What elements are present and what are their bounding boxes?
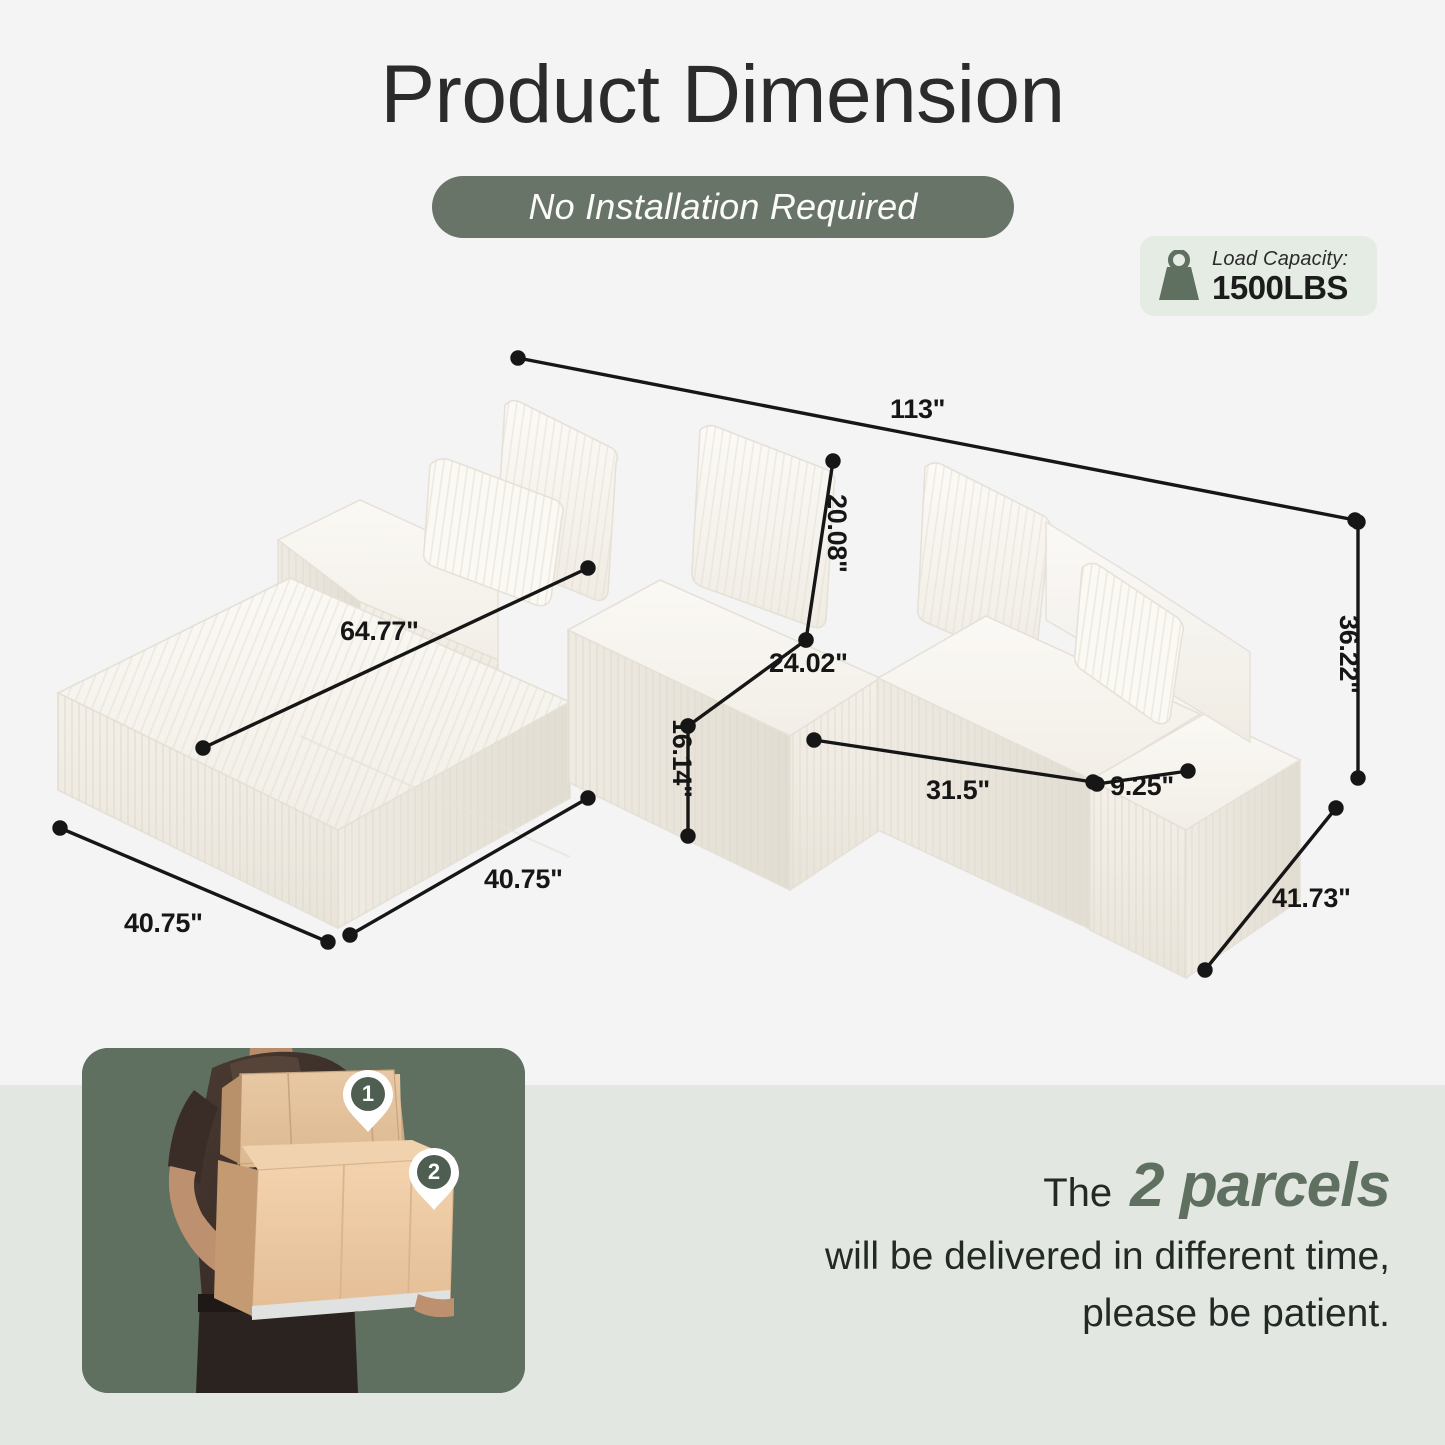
- delivery-photo: 1 2: [82, 1048, 525, 1393]
- parcel-the-word: The: [1043, 1170, 1112, 1216]
- dimension-label-overall-depth: 41.73": [1272, 883, 1351, 914]
- load-capacity-label: Load Capacity:: [1212, 249, 1348, 269]
- svg-text:1: 1: [362, 1081, 374, 1106]
- parcel-message-line3: please be patient.: [620, 1286, 1390, 1343]
- no-installation-badge: No Installation Required: [432, 176, 1014, 238]
- dimension-label-back-cushion-height: 20.08": [821, 494, 852, 573]
- sofa-dimension-diagram: [0, 330, 1445, 1010]
- parcel-message-line1: The 2 parcels: [620, 1150, 1390, 1221]
- svg-text:2: 2: [428, 1159, 440, 1184]
- load-capacity-badge: Load Capacity: 1500LBS: [1140, 236, 1377, 316]
- dimension-label-seat-depth: 24.02": [769, 648, 848, 679]
- dimension-label-chaise-depth: 40.75": [484, 864, 563, 895]
- product-dimension-infographic: Product Dimension No Installation Requir…: [0, 0, 1445, 1445]
- dimension-label-overall-height: 36.22": [1333, 615, 1364, 694]
- no-installation-label: No Installation Required: [528, 186, 917, 228]
- weight-icon: [1156, 250, 1202, 302]
- parcel-message: The 2 parcels will be delivered in diffe…: [620, 1150, 1390, 1342]
- page-title: Product Dimension: [0, 52, 1445, 138]
- dimension-label-seat-height: 16.14": [666, 719, 697, 798]
- load-capacity-value: 1500LBS: [1212, 271, 1348, 304]
- dimension-label-chaise-width: 40.75": [124, 908, 203, 939]
- parcel-message-line2: will be delivered in different time,: [620, 1229, 1390, 1286]
- dimension-label-seat-width: 31.5": [926, 775, 990, 806]
- dimension-label-armrest-width: 9.25": [1110, 771, 1174, 802]
- top-section: Product Dimension No Installation Requir…: [0, 0, 1445, 1085]
- load-capacity-text: Load Capacity: 1500LBS: [1212, 249, 1348, 304]
- dimension-label-chaise-length: 64.77": [340, 616, 419, 647]
- parcel-count-highlight: 2 parcels: [1130, 1150, 1390, 1221]
- dimension-label-overall-width: 113": [890, 394, 945, 425]
- sofa-middle-seat-module: [568, 580, 880, 890]
